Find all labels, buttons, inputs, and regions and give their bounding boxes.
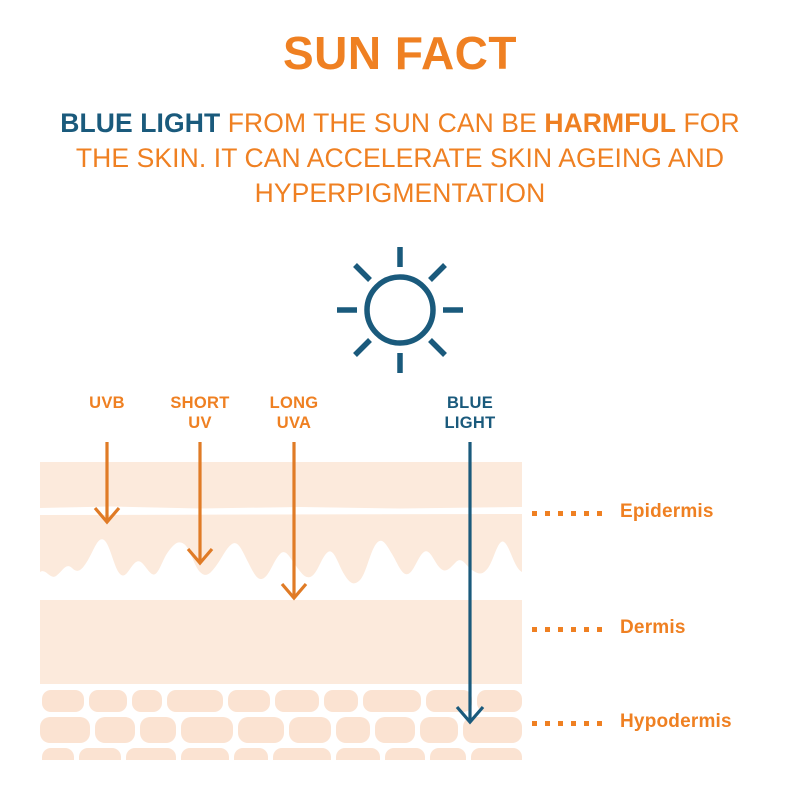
sun-disc: [367, 277, 433, 343]
hypodermis-cell: [426, 690, 472, 712]
hypodermis-cell: [228, 690, 270, 712]
ray-label-long-uva-line2: UVA: [244, 413, 344, 433]
hypodermis-cell: [181, 717, 233, 743]
hypodermis-cell: [167, 690, 223, 712]
layer-label-epidermis: Epidermis: [620, 501, 714, 523]
subtitle-part-2: FROM THE SUN CAN BE: [220, 108, 544, 138]
subtitle-blue-light: BLUE LIGHT: [60, 108, 220, 138]
hypodermis-cell: [234, 748, 268, 760]
hypodermis-cell: [95, 717, 135, 743]
hypodermis-cell: [430, 748, 466, 760]
ray-label-blue-light: BLUE LIGHT: [420, 393, 520, 433]
ray-label-short-uv-line1: SHORT: [150, 393, 250, 413]
skin-cross-section: [40, 440, 540, 760]
hypodermis-cell: [140, 717, 176, 743]
leader-line-hypodermis: [532, 721, 610, 726]
hypodermis-cell: [79, 748, 121, 760]
hypodermis-cell: [336, 717, 370, 743]
subtitle-harmful: HARMFUL: [544, 108, 676, 138]
hypodermis-cell: [132, 690, 162, 712]
ray-label-uvb-line1: UVB: [57, 393, 157, 413]
subtitle-text: BLUE LIGHT FROM THE SUN CAN BE HARMFUL F…: [40, 106, 760, 211]
hypodermis-cell: [126, 748, 176, 760]
sun-fact-infographic: SUN FACT BLUE LIGHT FROM THE SUN CAN BE …: [0, 0, 800, 800]
layer-label-hypodermis: Hypodermis: [620, 711, 732, 733]
skin-cross-section-svg: [40, 440, 540, 760]
ray-label-short-uv: SHORT UV: [150, 393, 250, 433]
sun-ray-nw: [355, 265, 370, 280]
hypodermis-cell: [275, 690, 319, 712]
sun-ray-ne: [430, 265, 445, 280]
ray-label-long-uva: LONG UVA: [244, 393, 344, 433]
hypodermis-cell: [324, 690, 358, 712]
hypodermis-cell: [89, 690, 127, 712]
hypodermis-cell: [42, 690, 84, 712]
sun-ray-se: [430, 340, 445, 355]
leader-line-dermis: [532, 627, 610, 632]
hypodermis-cell: [42, 748, 74, 760]
hypodermis-cell: [385, 748, 425, 760]
hypodermis-cell: [375, 717, 415, 743]
hypodermis-cell: [289, 717, 331, 743]
ray-label-uvb: UVB: [57, 393, 157, 413]
hypodermis-cell: [363, 690, 421, 712]
hypodermis-cell: [40, 717, 90, 743]
hypodermis-cell: [477, 690, 522, 712]
sun-icon: [330, 245, 470, 375]
hypodermis-cell: [471, 748, 522, 760]
layer-label-dermis: Dermis: [620, 617, 686, 639]
hypodermis-cell: [181, 748, 229, 760]
hypodermis-cell: [420, 717, 458, 743]
ray-label-blue-light-line1: BLUE: [420, 393, 520, 413]
ray-label-short-uv-line2: UV: [150, 413, 250, 433]
hypodermis-cell: [273, 748, 331, 760]
ray-label-long-uva-line1: LONG: [244, 393, 344, 413]
page-title: SUN FACT: [0, 26, 800, 80]
hypodermis-cells: [40, 690, 522, 760]
skin-slab: [40, 462, 522, 684]
ray-label-blue-light-line2: LIGHT: [420, 413, 520, 433]
hypodermis-cell: [238, 717, 284, 743]
sun-ray-sw: [355, 340, 370, 355]
hypodermis-cell: [336, 748, 380, 760]
sun-icon-svg: [330, 245, 470, 375]
leader-line-epidermis: [532, 511, 610, 516]
